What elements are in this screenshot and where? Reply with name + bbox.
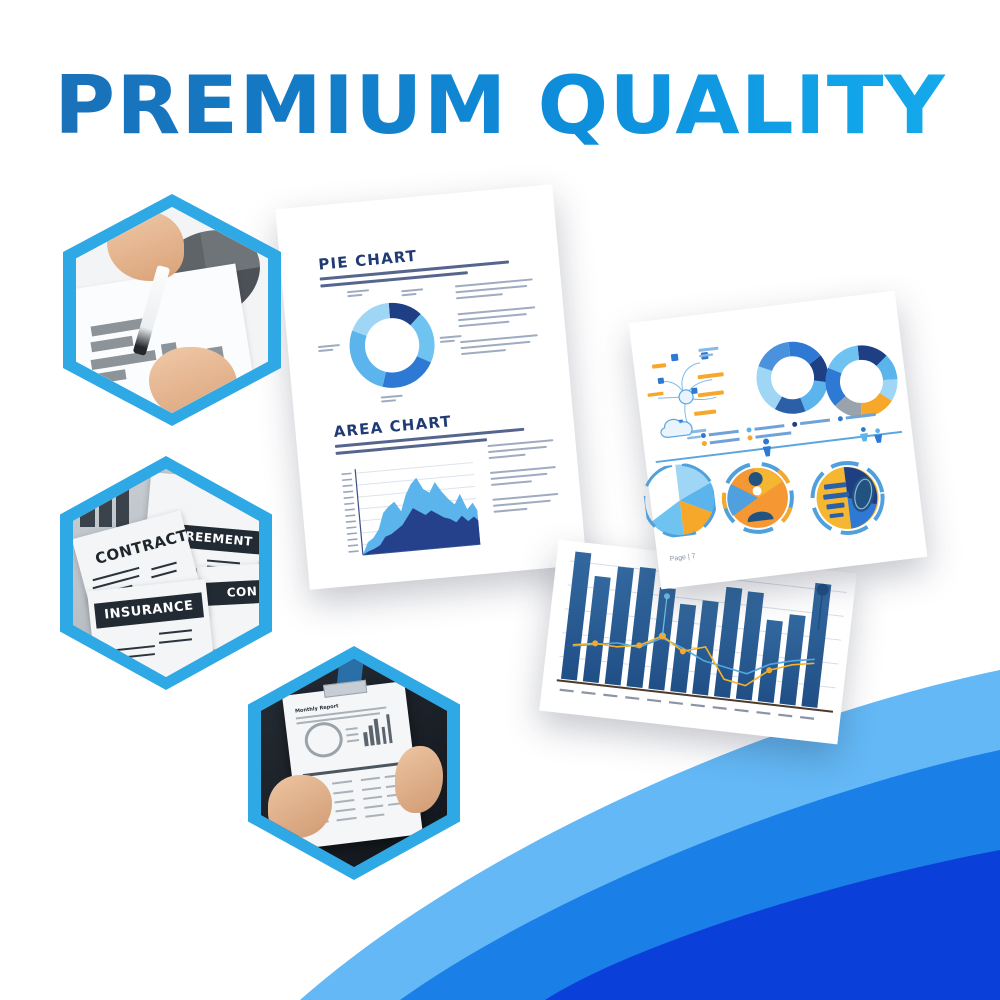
photo-businessman-holding-clipboard-report: Monthly Report [261,659,447,867]
pie-label-4 [318,344,340,352]
photo-hexagon-analyst [63,194,281,426]
photo-hexagon-clipboard: Monthly Report [248,646,460,880]
page-title: PREMIUM QUALITY [0,66,1000,146]
page-number: Page | 7 [669,553,696,563]
legend-label-1 [709,430,739,436]
photo-analyst-pointing-at-printed-charts [76,207,268,413]
photo-hexagon-contracts: AGREEMENT CON CONTRACT INSURANCE [60,456,272,690]
legend-dot-5 [702,441,708,447]
legend-dot-2 [746,427,752,433]
photo-frame-inner-1 [76,207,268,413]
document-label-contract-partial: CON [203,579,259,606]
infographic-partial-circle [641,460,719,540]
infographic-ribbon-circle [803,453,892,542]
pie-label-5 [381,395,403,403]
photo-contract-insurance-documents: AGREEMENT CON CONTRACT INSURANCE [73,469,259,677]
area-body-column [487,439,559,513]
area-chart [333,455,481,567]
legend-dot-3 [792,422,798,428]
pie-body-column [455,278,539,355]
photo-frame-inner-2: AGREEMENT CON CONTRACT INSURANCE [73,469,259,677]
document-page-report-charts: PIE CHART [275,184,586,590]
premium-quality-banner: PREMIUM QUALITY PIE CHART [0,0,1000,1000]
legend-label-2 [754,424,784,430]
legend-dot-1 [701,433,707,439]
infographic-person-circle [717,457,799,539]
document-page-infographic: Page | 7 [629,291,928,590]
infographic-donut-b [819,339,904,424]
pie-chart-donut [342,295,442,395]
pie-label-1 [347,289,369,297]
pie-label-2 [401,288,423,296]
photo-frame-inner-3: Monthly Report [261,659,447,867]
legend-label-3 [800,419,830,425]
legend-label-4 [846,413,876,419]
legend-dot-4 [838,416,844,422]
